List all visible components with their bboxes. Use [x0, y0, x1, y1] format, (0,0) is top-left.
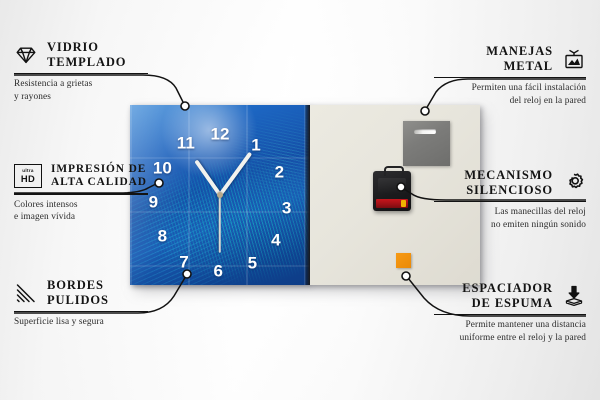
- arrow-down-pad-icon: [562, 284, 586, 308]
- infographic-canvas: 12 1 2 3 4 5 6 7 8 9 10 11: [0, 0, 600, 400]
- callout-sub-line1: Permiten una fácil instalación: [434, 82, 586, 95]
- connector-dot-mecanismo: [397, 183, 405, 191]
- callout-title-line2: ALTA CALIDAD: [51, 176, 147, 189]
- callout-vidrio-templado[interactable]: VIDRIO TEMPLADO Resistencia a grietas y …: [14, 40, 148, 103]
- callout-title-line1: IMPRESIÓN DE: [51, 163, 147, 176]
- gear-icon: [562, 171, 586, 195]
- diamond-icon: [14, 43, 38, 67]
- callout-rule: [14, 193, 148, 195]
- callout-title-line1: MECANISMO: [464, 168, 553, 183]
- callout-header: BORDES PULIDOS: [14, 278, 148, 308]
- callout-title-line2: PULIDOS: [47, 293, 109, 308]
- callout-sub-line2: no emiten ningún sonido: [434, 219, 586, 232]
- callout-header: ESPACIADOR DE ESPUMA: [434, 281, 586, 311]
- callout-rule: [434, 77, 586, 79]
- callout-sub-line1: Colores intensos: [14, 199, 148, 212]
- callout-sub-line2: uniforme entre el reloj y la pared: [434, 332, 586, 345]
- callout-mecanismo-silencioso[interactable]: MECANISMO SILENCIOSO Las manecillas del …: [434, 168, 586, 231]
- callout-header: VIDRIO TEMPLADO: [14, 40, 148, 70]
- callout-sub-line2: del reloj en la pared: [434, 95, 586, 108]
- callout-title-line1: MANEJAS: [486, 44, 553, 59]
- connector-dot-bordes-pulidos: [183, 270, 191, 278]
- callout-header: MANEJAS METAL: [434, 44, 586, 74]
- callout-rule: [14, 311, 148, 313]
- callout-rule: [14, 73, 148, 75]
- callout-bordes-pulidos[interactable]: BORDES PULIDOS Superficie lisa y segura: [14, 278, 148, 329]
- callout-sub-line1: Resistencia a grietas: [14, 78, 148, 91]
- callout-manejas-metal[interactable]: MANEJAS METAL Permiten una fácil instala…: [434, 44, 586, 107]
- callout-title-line2: SILENCIOSO: [464, 183, 553, 198]
- connector-dot-manejas-metal: [421, 107, 429, 115]
- callout-impresion-alta-calidad[interactable]: ultra HD IMPRESIÓN DE ALTA CALIDAD Color…: [14, 163, 148, 224]
- callout-title-line2: DE ESPUMA: [462, 296, 553, 311]
- polished-edge-icon: [14, 281, 38, 305]
- callout-rule: [434, 201, 586, 203]
- callout-sub-line1: Las manecillas del reloj: [434, 206, 586, 219]
- callout-title-line1: VIDRIO: [47, 40, 126, 55]
- ultra-hd-icon-bottom: HD: [21, 174, 35, 183]
- callout-espaciador-espuma[interactable]: ESPACIADOR DE ESPUMA Permite mantener un…: [434, 281, 586, 344]
- callout-sub-line2: y rayones: [14, 91, 148, 104]
- callout-sub-line1: Permite mantener una distancia: [434, 319, 586, 332]
- connector-dot-espaciador: [402, 272, 410, 280]
- callout-sub-line1: Superficie lisa y segura: [14, 316, 148, 329]
- connector-dot-vidrio-templado: [181, 102, 189, 110]
- callout-rule: [434, 314, 586, 316]
- connector-dot-impresion: [155, 179, 163, 187]
- callout-header: ultra HD IMPRESIÓN DE ALTA CALIDAD: [14, 163, 148, 190]
- callout-header: MECANISMO SILENCIOSO: [434, 168, 586, 198]
- callout-sub-line2: e imagen vívida: [14, 211, 148, 224]
- callout-title-line2: TEMPLADO: [47, 55, 126, 70]
- ultra-hd-icon: ultra HD: [14, 164, 42, 188]
- callout-title-line1: BORDES: [47, 278, 109, 293]
- callout-title-line2: METAL: [486, 59, 553, 74]
- picture-frame-hook-icon: [562, 47, 586, 71]
- callout-title-line1: ESPACIADOR: [462, 281, 553, 296]
